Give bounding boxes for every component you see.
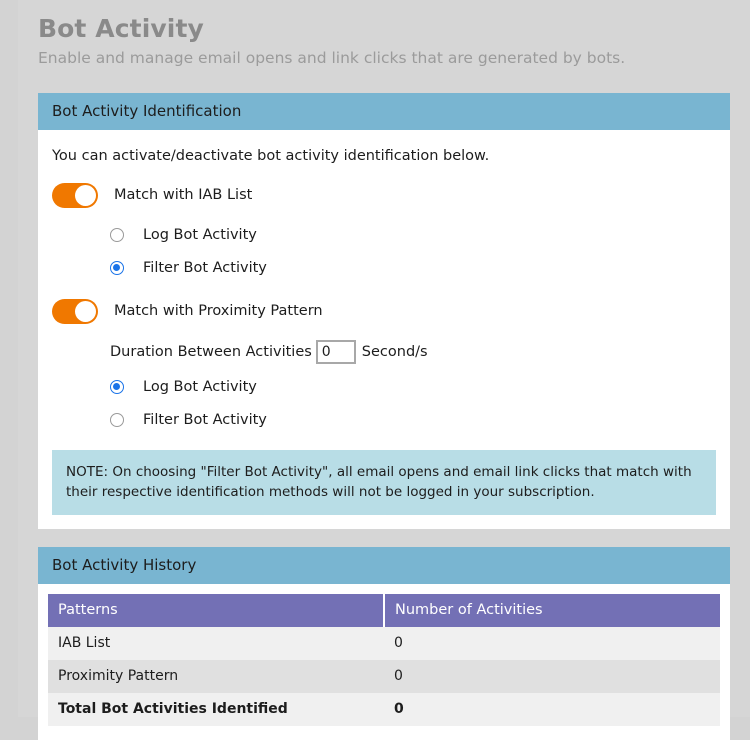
column-header-patterns: Patterns	[48, 594, 384, 627]
card-spacer	[18, 529, 750, 547]
proximity-option-log-label: Log Bot Activity	[143, 379, 257, 395]
proximity-toggle-switch[interactable]	[52, 299, 98, 324]
radio-proximity-filter-icon[interactable]	[110, 413, 124, 427]
table-row: Proximity Pattern 0	[48, 660, 720, 693]
page-title: Bot Activity	[38, 14, 750, 44]
cell-count: 0	[384, 627, 720, 660]
cell-total-count: 0	[384, 693, 720, 726]
bot-activity-history-table: Patterns Number of Activities IAB List 0…	[48, 594, 720, 726]
bot-activity-identification-card: Bot Activity Identification You can acti…	[38, 93, 730, 529]
duration-unit-label: Second/s	[362, 344, 428, 360]
table-header-row: Patterns Number of Activities	[48, 594, 720, 627]
content-pane: Bot Activity Enable and manage email ope…	[18, 0, 750, 717]
history-card-header: Bot Activity History	[38, 547, 730, 584]
iab-toggle-switch[interactable]	[52, 183, 98, 208]
radio-proximity-log-icon[interactable]	[110, 380, 124, 394]
iab-option-filter-label: Filter Bot Activity	[143, 260, 267, 276]
page-header: Bot Activity Enable and manage email ope…	[18, 0, 750, 69]
table-row: IAB List 0	[48, 627, 720, 660]
identification-card-body: You can activate/deactivate bot activity…	[38, 130, 730, 529]
proximity-toggle-label: Match with Proximity Pattern	[114, 303, 323, 319]
duration-label: Duration Between Activities	[110, 344, 312, 360]
header-spacer	[18, 69, 750, 93]
radio-iab-filter-icon[interactable]	[110, 261, 124, 275]
table-body: IAB List 0 Proximity Pattern 0 Total Bot…	[48, 627, 720, 726]
proximity-option-filter-label: Filter Bot Activity	[143, 412, 267, 428]
identification-card-header: Bot Activity Identification	[38, 93, 730, 130]
intro-text: You can activate/deactivate bot activity…	[52, 148, 716, 164]
iab-toggle-label: Match with IAB List	[114, 187, 252, 203]
iab-option-log-label: Log Bot Activity	[143, 227, 257, 243]
table-row-total: Total Bot Activities Identified 0	[48, 693, 720, 726]
table-head: Patterns Number of Activities	[48, 594, 720, 627]
toggle-knob-icon	[75, 185, 96, 206]
cell-pattern: IAB List	[48, 627, 384, 660]
duration-row: Duration Between Activities Second/s	[110, 334, 716, 370]
cell-pattern: Proximity Pattern	[48, 660, 384, 693]
radio-iab-log-icon[interactable]	[110, 228, 124, 242]
note-text: NOTE: On choosing "Filter Bot Activity",…	[66, 464, 692, 500]
iab-option-log[interactable]: Log Bot Activity	[110, 218, 716, 251]
duration-input[interactable]	[316, 340, 356, 364]
cell-total-label: Total Bot Activities Identified	[48, 693, 384, 726]
cell-count: 0	[384, 660, 720, 693]
iab-option-filter[interactable]: Filter Bot Activity	[110, 251, 716, 284]
page-subtitle: Enable and manage email opens and link c…	[38, 47, 750, 69]
page-root: Bot Activity Enable and manage email ope…	[0, 0, 750, 717]
column-header-number-of-activities: Number of Activities	[384, 594, 720, 627]
proximity-option-filter[interactable]: Filter Bot Activity	[110, 403, 716, 436]
proximity-toggle-row: Match with Proximity Pattern	[52, 294, 716, 328]
note-box: NOTE: On choosing "Filter Bot Activity",…	[52, 450, 716, 515]
proximity-option-log[interactable]: Log Bot Activity	[110, 370, 716, 403]
bot-activity-history-card: Bot Activity History Patterns Number of …	[38, 547, 730, 740]
iab-toggle-row: Match with IAB List	[52, 178, 716, 212]
toggle-knob-icon	[75, 301, 96, 322]
